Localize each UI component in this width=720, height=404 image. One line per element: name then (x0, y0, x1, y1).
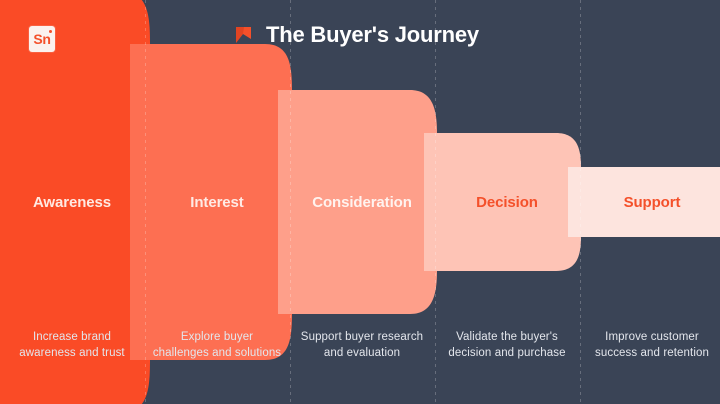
funnel-band-support (568, 167, 720, 237)
funnel-band-consideration (278, 90, 437, 314)
stage-divider-2 (290, 0, 291, 404)
funnel-band-interest (130, 44, 292, 360)
infographic-canvas: Sn The Buyer's Journey Awareness Interes… (0, 0, 720, 404)
funnel-band-awareness (0, 0, 150, 404)
funnel-chart (0, 0, 720, 404)
stage-divider-4 (580, 0, 581, 404)
funnel-band-decision (424, 133, 581, 271)
stage-divider-1 (145, 0, 146, 404)
stage-divider-3 (435, 0, 436, 404)
